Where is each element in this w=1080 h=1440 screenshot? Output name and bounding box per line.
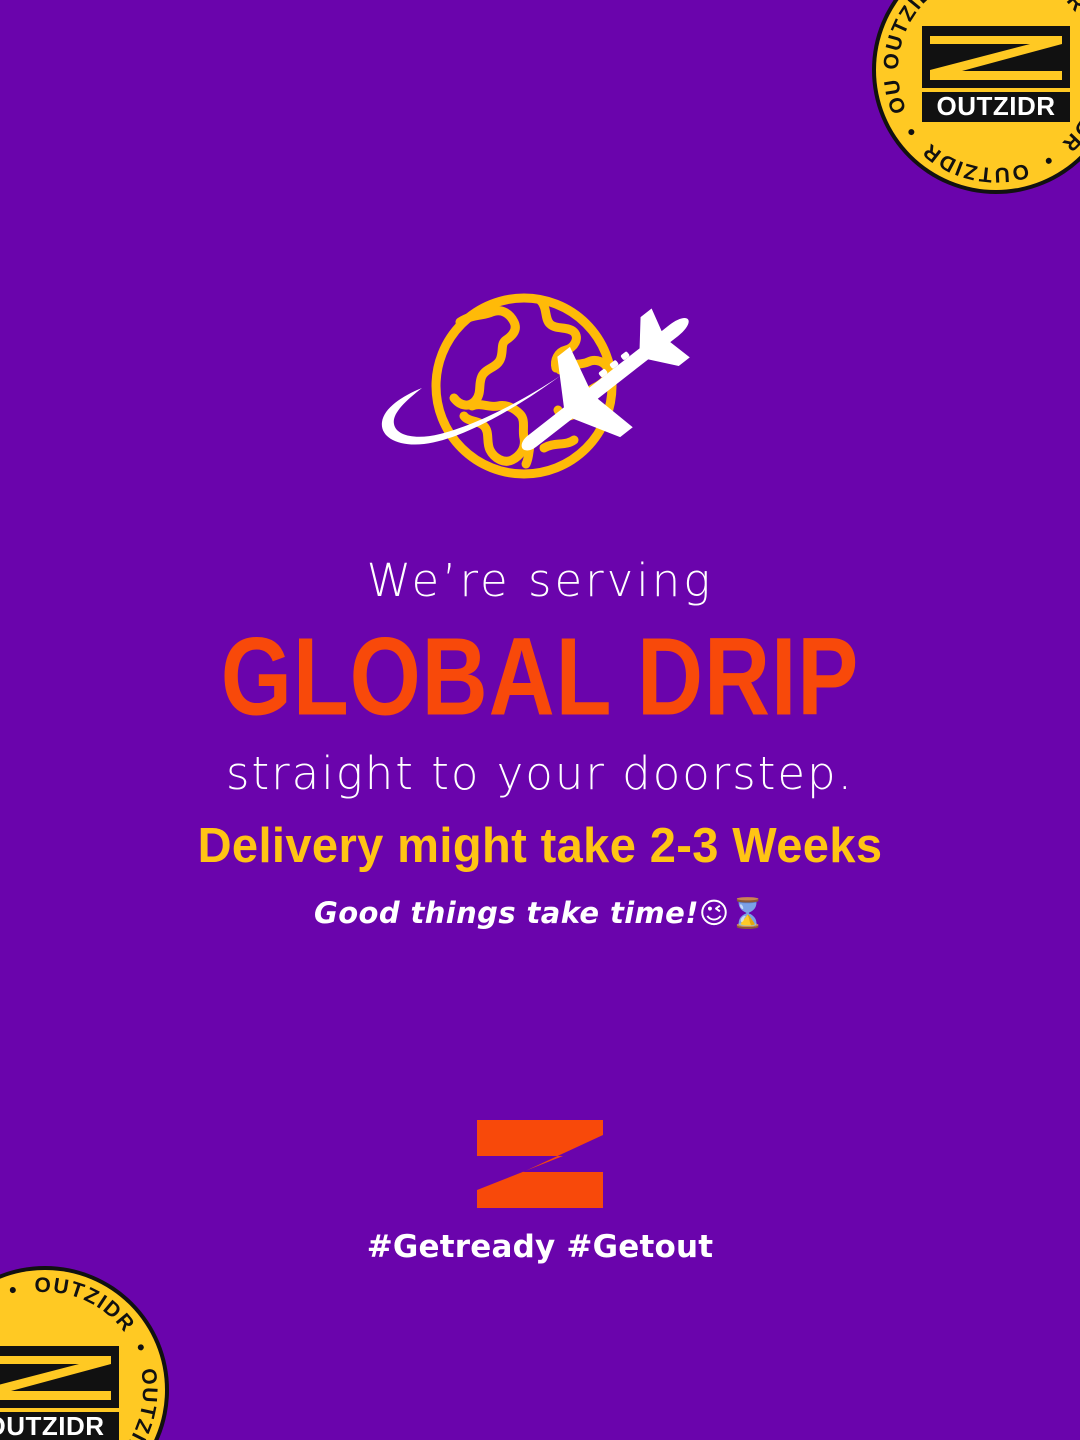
delivery-headline: Delivery might take 2-3 Weeks [22,822,1059,871]
svg-text:OUTZIDR: OUTZIDR [936,91,1055,121]
outzidr-badge-top-right: OUTZIDR • OUTZIDR • OUTZIDR • OUTZIDR • … [866,0,1080,200]
svg-text:OUTZIDR: OUTZIDR [0,1411,105,1440]
poster-canvas: OUTZIDR • OUTZIDR • OUTZIDR • OUTZIDR • … [0,0,1080,1440]
globe-with-airplane-illustration [364,278,716,510]
hashtags: #Getready #Getout [0,1208,1080,1263]
outzidr-z-logo [477,1120,603,1208]
delivery-note-block: Delivery might take 2-3 Weeks Good thing… [0,822,1080,928]
delivery-subtext: Good things take time! [314,896,699,930]
footer-block: #Getready #Getout [0,1120,1080,1263]
headline-line-serving: We’re serving [0,550,1080,603]
delivery-subtext-row: Good things take time!😉⌛ [0,871,1080,928]
outzidr-badge-bottom-left: OUTZIDR • OUTZIDR • OUTZIDR • OUTZIDR • … [0,1260,175,1440]
headline-line-global-drip: GLOBAL DRIP [65,603,1015,732]
wink-hourglass-emoji: 😉⌛ [699,896,766,930]
headline-block: We’re serving GLOBAL DRIP straight to yo… [0,550,1080,796]
